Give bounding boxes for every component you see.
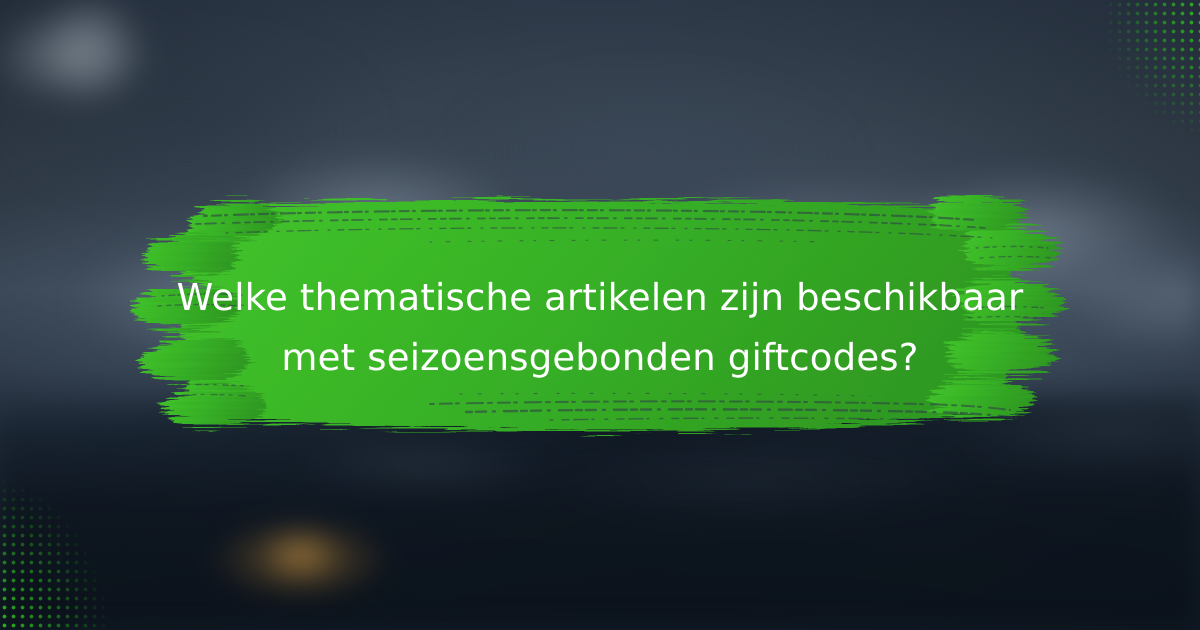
halftone-dots-bottom-left-icon	[0, 450, 140, 630]
page-title: Welke thematische artikelen zijn beschik…	[0, 268, 1200, 388]
social-share-card: Welke thematische artikelen zijn beschik…	[0, 0, 1200, 630]
halftone-dots-top-right-icon	[1070, 0, 1200, 150]
